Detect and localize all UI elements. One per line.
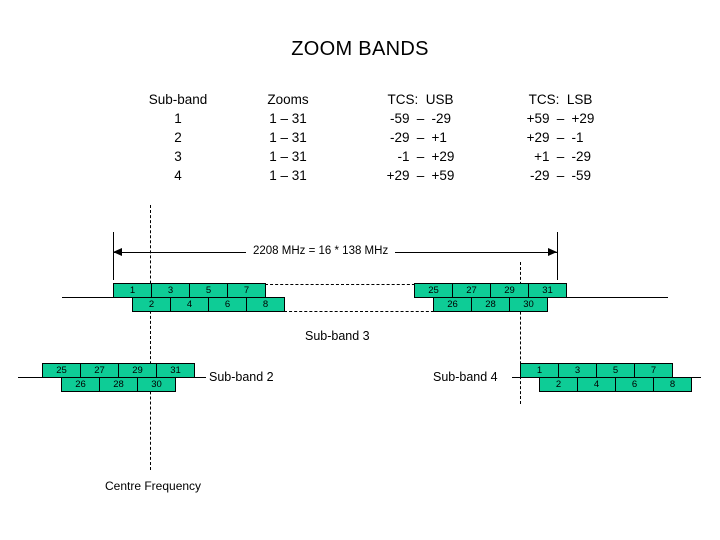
band-cell: 4 [170, 297, 209, 312]
band-cell: 25 [42, 363, 81, 378]
subband4-top-row: 1 3 5 7 [520, 363, 673, 378]
usb-from: -59 [380, 109, 410, 128]
cell-zooms: 1 – 31 [228, 147, 348, 166]
band-cell: 8 [653, 377, 692, 392]
lsb-to: +29 [572, 109, 602, 128]
subband3-right-bottom-row: 26 28 30 [433, 297, 548, 312]
band-cell: 1 [520, 363, 559, 378]
usb-to: +59 [432, 166, 462, 185]
band-cell: 2 [539, 377, 578, 392]
lsb-to: -1 [572, 128, 602, 147]
band-cell: 7 [227, 283, 266, 298]
usb-dash: – [410, 109, 432, 128]
table-row: 3 1 – 31 -1–+29 +1–-29 [128, 147, 628, 166]
lsb-from: -29 [520, 166, 550, 185]
usb-from: +29 [380, 166, 410, 185]
zoom-band-parameter-table: Sub-band Zooms TCS: USB TCS: LSB 1 1 – 3… [128, 90, 628, 185]
dimension-arrowhead-right [548, 248, 557, 256]
lsb-dash: – [550, 128, 572, 147]
band-cell: 5 [189, 283, 228, 298]
subband4-label: Sub-band 4 [433, 370, 498, 384]
usb-from: -29 [380, 128, 410, 147]
subband3-right-top-row: 25 27 29 31 [414, 283, 567, 298]
subband3-axis-right-stub [550, 297, 668, 298]
dimension-arrowhead-left [113, 248, 122, 256]
table-row: 4 1 – 31 +29–+59 -29–-59 [128, 166, 628, 185]
band-cell: 8 [246, 297, 285, 312]
band-cell: 29 [118, 363, 157, 378]
lsb-from: +59 [520, 109, 550, 128]
subband4-bottom-row: 2 4 6 8 [539, 377, 692, 392]
usb-dash: – [410, 147, 432, 166]
band-cell: 31 [156, 363, 195, 378]
band-cell: 31 [528, 283, 567, 298]
subband3-left-top-row: 1 3 5 7 [113, 283, 266, 298]
dimension-tick-left [113, 232, 114, 280]
cell-subband: 1 [128, 109, 228, 128]
band-cell: 27 [80, 363, 119, 378]
band-cell: 6 [615, 377, 654, 392]
band-cell: 6 [208, 297, 247, 312]
dimension-tick-right [557, 232, 558, 280]
cell-zooms: 1 – 31 [228, 166, 348, 185]
cell-tcs-lsb: +29–-1 [493, 128, 628, 147]
usb-from: -1 [380, 147, 410, 166]
lsb-dash: – [550, 166, 572, 185]
band-cell: 28 [99, 377, 138, 392]
usb-to: +29 [432, 147, 462, 166]
band-cell: 4 [577, 377, 616, 392]
column-header-subband: Sub-band [128, 90, 228, 109]
subband3-axis-left-stub [62, 297, 120, 298]
lsb-dash: – [550, 147, 572, 166]
lsb-dash: – [550, 109, 572, 128]
cell-tcs-usb: -1–+29 [348, 147, 493, 166]
band-cell: 27 [452, 283, 491, 298]
cell-zooms: 1 – 31 [228, 109, 348, 128]
cell-zooms: 1 – 31 [228, 128, 348, 147]
cell-tcs-lsb: +1–-29 [493, 147, 628, 166]
band-cell: 30 [509, 297, 548, 312]
lsb-to: -29 [572, 147, 602, 166]
table-header-row: Sub-band Zooms TCS: USB TCS: LSB [128, 90, 628, 109]
dimension-span-label: 2208 MHz = 16 * 138 MHz [246, 245, 395, 257]
cell-subband: 4 [128, 166, 228, 185]
column-header-tcs-lsb: TCS: LSB [493, 90, 628, 109]
lsb-from: +1 [520, 147, 550, 166]
column-header-zooms: Zooms [228, 90, 348, 109]
cell-tcs-usb: +29–+59 [348, 166, 493, 185]
band-cell: 29 [490, 283, 529, 298]
subband3-connector-top [265, 284, 420, 285]
page-title: ZOOM BANDS [0, 38, 720, 61]
cell-subband: 2 [128, 128, 228, 147]
lsb-to: -59 [572, 166, 602, 185]
subband3-connector-bottom [284, 311, 439, 312]
band-cell: 26 [433, 297, 472, 312]
band-cell: 7 [634, 363, 673, 378]
band-cell: 1 [113, 283, 152, 298]
table-row: 1 1 – 31 -59–-29 +59–+29 [128, 109, 628, 128]
subband2-bottom-row: 26 28 30 [61, 377, 176, 392]
band-cell: 28 [471, 297, 510, 312]
slide-canvas: ZOOM BANDS Sub-band Zooms TCS: USB TCS: … [0, 0, 720, 540]
centre-frequency-label: Centre Frequency [105, 479, 201, 493]
band-cell: 30 [137, 377, 176, 392]
subband3-left-bottom-row: 2 4 6 8 [132, 297, 285, 312]
cell-tcs-usb: -59–-29 [348, 109, 493, 128]
column-header-tcs-usb: TCS: USB [348, 90, 493, 109]
subband3-label: Sub-band 3 [305, 329, 370, 343]
table-row: 2 1 – 31 -29–+1 +29–-1 [128, 128, 628, 147]
band-cell: 3 [151, 283, 190, 298]
usb-to: -29 [432, 109, 462, 128]
subband2-top-row: 25 27 29 31 [42, 363, 195, 378]
lsb-from: +29 [520, 128, 550, 147]
band-cell: 3 [558, 363, 597, 378]
usb-dash: – [410, 128, 432, 147]
cell-tcs-lsb: +59–+29 [493, 109, 628, 128]
band-cell: 2 [132, 297, 171, 312]
usb-dash: – [410, 166, 432, 185]
usb-to: +1 [432, 128, 462, 147]
cell-subband: 3 [128, 147, 228, 166]
cell-tcs-usb: -29–+1 [348, 128, 493, 147]
band-cell: 5 [596, 363, 635, 378]
cell-tcs-lsb: -29–-59 [493, 166, 628, 185]
band-cell: 25 [414, 283, 453, 298]
band-cell: 26 [61, 377, 100, 392]
centre-frequency-line-left [150, 205, 151, 470]
subband2-label: Sub-band 2 [209, 370, 274, 384]
